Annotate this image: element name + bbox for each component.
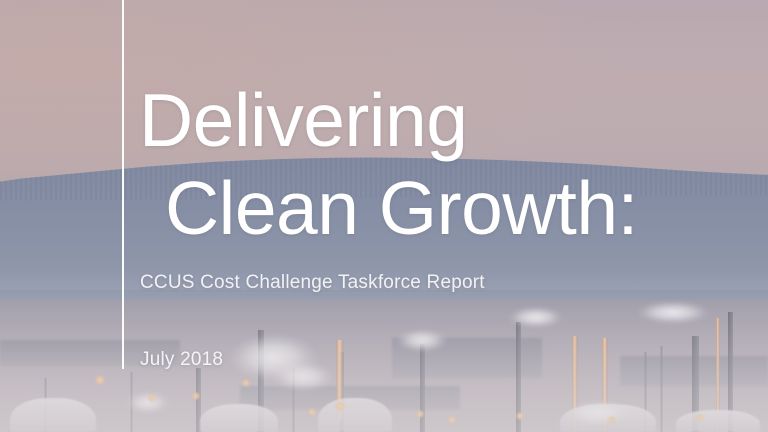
lamp-d xyxy=(242,379,250,387)
lamp-k xyxy=(696,414,704,422)
title-block: Delivering Clean Growth: xyxy=(139,76,739,252)
lamp-e xyxy=(308,408,316,416)
tank-center-dome xyxy=(200,404,278,432)
page-title-line-1: Delivering xyxy=(139,76,739,164)
lamp-f xyxy=(335,401,345,411)
lamp-b xyxy=(148,394,156,402)
tank-foreground-left xyxy=(10,398,96,432)
lamp-c xyxy=(192,392,200,400)
plume-right-a xyxy=(508,300,574,328)
plume-center-tail xyxy=(272,352,346,392)
publication-date: July 2018 xyxy=(140,349,223,371)
vertical-rule xyxy=(122,0,124,369)
lamp-i xyxy=(516,412,524,420)
page-subtitle: CCUS Cost Challenge Taskforce Report xyxy=(140,272,485,294)
lamp-g xyxy=(416,410,424,418)
stack-dark-mid xyxy=(420,344,425,432)
plume-right-b xyxy=(636,294,724,324)
page-title-line-2: Clean Growth: xyxy=(139,164,739,252)
lamp-a xyxy=(95,375,105,385)
plume-low-right xyxy=(568,392,640,426)
plume-mid-small xyxy=(396,322,458,352)
tank-far-right xyxy=(676,410,760,432)
tank-center-right xyxy=(318,398,392,432)
report-cover-page: Delivering Clean Growth: CCUS Cost Chall… xyxy=(0,0,768,432)
lamp-j xyxy=(608,416,616,424)
pylon-crane-right xyxy=(660,346,663,432)
lamp-h xyxy=(448,416,456,424)
